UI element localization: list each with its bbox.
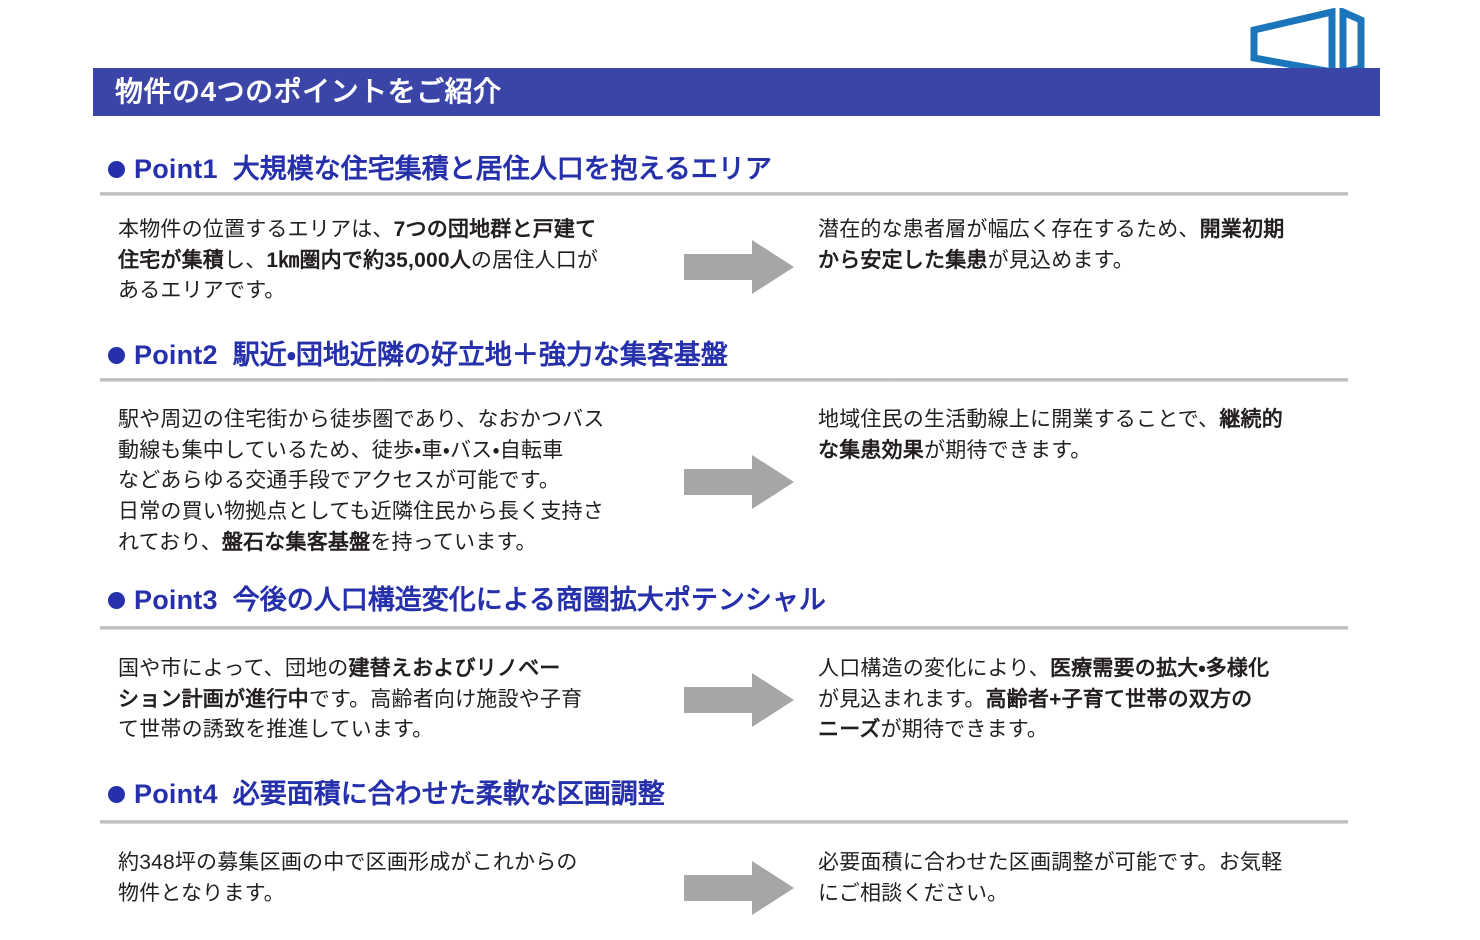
text-line: あるエリアです。 xyxy=(118,276,678,307)
text-line: 必要面積に合わせた区画調整が可能です。お気軽 xyxy=(818,848,1358,879)
point-4-right-text: 必要面積に合わせた区画調整が可能です。お気軽にご相談ください。 xyxy=(818,848,1358,909)
text-line: などあらゆる交通手段でアクセスが可能です。 xyxy=(118,466,678,497)
bullet-dot-icon xyxy=(108,592,125,609)
point-1-label: Point1 xyxy=(134,155,218,185)
emphasis-text: な集患効果 xyxy=(818,439,924,462)
plain-text: 本物件の位置するエリアは、 xyxy=(118,218,394,241)
emphasis-text: 継続的 xyxy=(1219,408,1283,431)
point-4-title: 必要面積に合わせた柔軟な区画調整 xyxy=(233,780,665,810)
point-1-right-text: 潜在的な患者層が幅広く存在するため、開業初期から安定した集患が見込めます。 xyxy=(818,215,1358,276)
plain-text: あるエリアです。 xyxy=(118,279,286,302)
point-1-title: 大規模な住宅集積と居住人口を抱えるエリア xyxy=(233,155,772,185)
emphasis-text: 医療需要の拡大・多様化 xyxy=(1050,657,1269,680)
text-line: 潜在的な患者層が幅広く存在するため、開業初期 xyxy=(818,215,1358,246)
point-1-heading-row: Point1大規模な住宅集積と居住人口を抱えるエリア xyxy=(0,155,1480,185)
text-line: な集患効果が期待できます。 xyxy=(818,436,1358,467)
point-2-heading: Point2駅近・団地近隣の好立地＋強力な集客基盤 xyxy=(108,341,1480,371)
emphasis-text: 住宅が集積 xyxy=(118,249,224,272)
text-line: 駅や周辺の住宅街から徒歩圏であり、なおかつバス xyxy=(118,405,678,436)
emphasis-text: ション計画が進行中 xyxy=(118,688,309,711)
text-line: 地域住民の生活動線上に開業することで、継続的 xyxy=(818,405,1358,436)
text-line: 本物件の位置するエリアは、7つの団地群と戸建て xyxy=(118,215,678,246)
text-line: 日常の買い物拠点としても近隣住民から長く支持さ xyxy=(118,497,678,528)
point-3-left-text: 国や市によって、団地の建替えおよびリノベーション計画が進行中です。高齢者向け施設… xyxy=(118,654,678,746)
text-line: ニーズが期待できます。 xyxy=(818,715,1358,746)
plain-text: が見込めます。 xyxy=(988,249,1134,272)
emphasis-text: 高齢者+子育て世帯の双方の xyxy=(986,688,1253,711)
point-3-right-text: 人口構造の変化により、医療需要の拡大・多様化が見込まれます。高齢者+子育て世帯の… xyxy=(818,654,1358,746)
point-1-left-text: 本物件の位置するエリアは、7つの団地群と戸建て住宅が集積し、1㎞圏内で約35,0… xyxy=(118,215,678,307)
emphasis-text: 1㎞圏内で約35,000人 xyxy=(266,249,471,272)
point-3-divider xyxy=(100,626,1348,630)
text-line: 物件となります。 xyxy=(118,879,678,910)
text-line: れており、盤石な集客基盤を持っています。 xyxy=(118,528,678,559)
emphasis-text: 建替えおよびリノベー xyxy=(348,657,560,680)
plain-text: 動線も集中しているため、徒歩・車・バス・自転車 xyxy=(118,439,563,462)
point-1-arrow-icon xyxy=(684,238,794,296)
point-3-title: 今後の人口構造変化による商圏拡大ポテンシャル xyxy=(233,586,826,616)
emphasis-text: から安定した集患 xyxy=(818,249,988,272)
point-3-heading: Point3今後の人口構造変化による商圏拡大ポテンシャル xyxy=(108,586,1480,616)
bullet-dot-icon xyxy=(108,161,125,178)
bullet-dot-icon xyxy=(108,347,125,364)
plain-text: 地域住民の生活動線上に開業することで、 xyxy=(818,408,1219,431)
text-line: 人口構造の変化により、医療需要の拡大・多様化 xyxy=(818,654,1358,685)
emphasis-text: 開業初期 xyxy=(1200,218,1285,241)
plain-text: 駅や周辺の住宅街から徒歩圏であり、なおかつバス xyxy=(118,408,605,431)
plain-text: が期待できます。 xyxy=(881,718,1049,741)
point-4-left-text: 約348坪の募集区画の中で区画形成がこれからの物件となります。 xyxy=(118,848,678,909)
text-line: 住宅が集積し、1㎞圏内で約35,000人の居住人口が xyxy=(118,246,678,277)
plain-text: れており、 xyxy=(118,531,222,554)
point-3-heading-row: Point3今後の人口構造変化による商圏拡大ポテンシャル xyxy=(0,586,1480,616)
plain-text: 国や市によって、団地の xyxy=(118,657,348,680)
point-2-label: Point2 xyxy=(134,341,218,371)
point-2-title: 駅近・団地近隣の好立地＋強力な集客基盤 xyxy=(233,341,728,371)
plain-text: 物件となります。 xyxy=(118,882,285,905)
slide-title-bar: 物件の4つのポイントをご紹介 xyxy=(93,68,1380,116)
plain-text: の居住人口が xyxy=(471,249,598,272)
point-2-right-text: 地域住民の生活動線上に開業することで、継続的な集患効果が期待できます。 xyxy=(818,405,1358,466)
plain-text: 約348坪の募集区画の中で区画形成がこれからの xyxy=(118,851,578,874)
point-4-divider xyxy=(100,820,1348,824)
point-3-arrow-icon xyxy=(684,671,794,729)
point-2-divider xyxy=(100,378,1348,382)
text-line: 動線も集中しているため、徒歩・車・バス・自転車 xyxy=(118,436,678,467)
plain-text: 必要面積に合わせた区画調整が可能です。お気軽 xyxy=(818,851,1282,874)
point-1-heading: Point1大規模な住宅集積と居住人口を抱えるエリア xyxy=(108,155,1480,185)
page-title: 物件の4つのポイントをご紹介 xyxy=(93,78,502,106)
text-line: て世帯の誘致を推進しています。 xyxy=(118,715,678,746)
company-box-logo xyxy=(1248,8,1366,76)
point-3-label: Point3 xyxy=(134,586,218,616)
point-4-heading-row: Point4必要面積に合わせた柔軟な区画調整 xyxy=(0,780,1480,810)
point-4-arrow-icon xyxy=(684,859,794,917)
point-2-left-text: 駅や周辺の住宅街から徒歩圏であり、なおかつバス動線も集中しているため、徒歩・車・… xyxy=(118,405,678,558)
plain-text: が見込まれます。 xyxy=(818,688,986,711)
text-line: 国や市によって、団地の建替えおよびリノベー xyxy=(118,654,678,685)
point-2-heading-row: Point2駅近・団地近隣の好立地＋強力な集客基盤 xyxy=(0,341,1480,371)
point-2-arrow-icon xyxy=(684,453,794,511)
plain-text: にご相談ください。 xyxy=(818,882,1008,905)
plain-text: 潜在的な患者層が幅広く存在するため、 xyxy=(818,218,1200,241)
plain-text: て世帯の誘致を推進しています。 xyxy=(118,718,433,741)
text-line: が見込まれます。高齢者+子育て世帯の双方の xyxy=(818,685,1358,716)
plain-text: が期待できます。 xyxy=(924,439,1092,462)
point-4-heading: Point4必要面積に合わせた柔軟な区画調整 xyxy=(108,780,1480,810)
plain-text: 人口構造の変化により、 xyxy=(818,657,1050,680)
plain-text: し、 xyxy=(224,249,266,272)
text-line: から安定した集患が見込めます。 xyxy=(818,246,1358,277)
text-line: 約348坪の募集区画の中で区画形成がこれからの xyxy=(118,848,678,879)
text-line: にご相談ください。 xyxy=(818,879,1358,910)
plain-text: 日常の買い物拠点としても近隣住民から長く支持さ xyxy=(118,500,604,523)
emphasis-text: 盤石な集客基盤 xyxy=(222,531,370,554)
emphasis-text: ニーズ xyxy=(818,718,881,741)
point-4-label: Point4 xyxy=(134,780,218,810)
plain-text: です。高齢者向け施設や子育 xyxy=(309,688,583,711)
plain-text: などあらゆる交通手段でアクセスが可能です。 xyxy=(118,469,560,492)
bullet-dot-icon xyxy=(108,786,125,803)
emphasis-text: 7つの団地群と戸建て xyxy=(394,218,597,241)
point-1-divider xyxy=(100,192,1348,196)
text-line: ション計画が進行中です。高齢者向け施設や子育 xyxy=(118,685,678,716)
plain-text: を持っています。 xyxy=(370,531,536,554)
